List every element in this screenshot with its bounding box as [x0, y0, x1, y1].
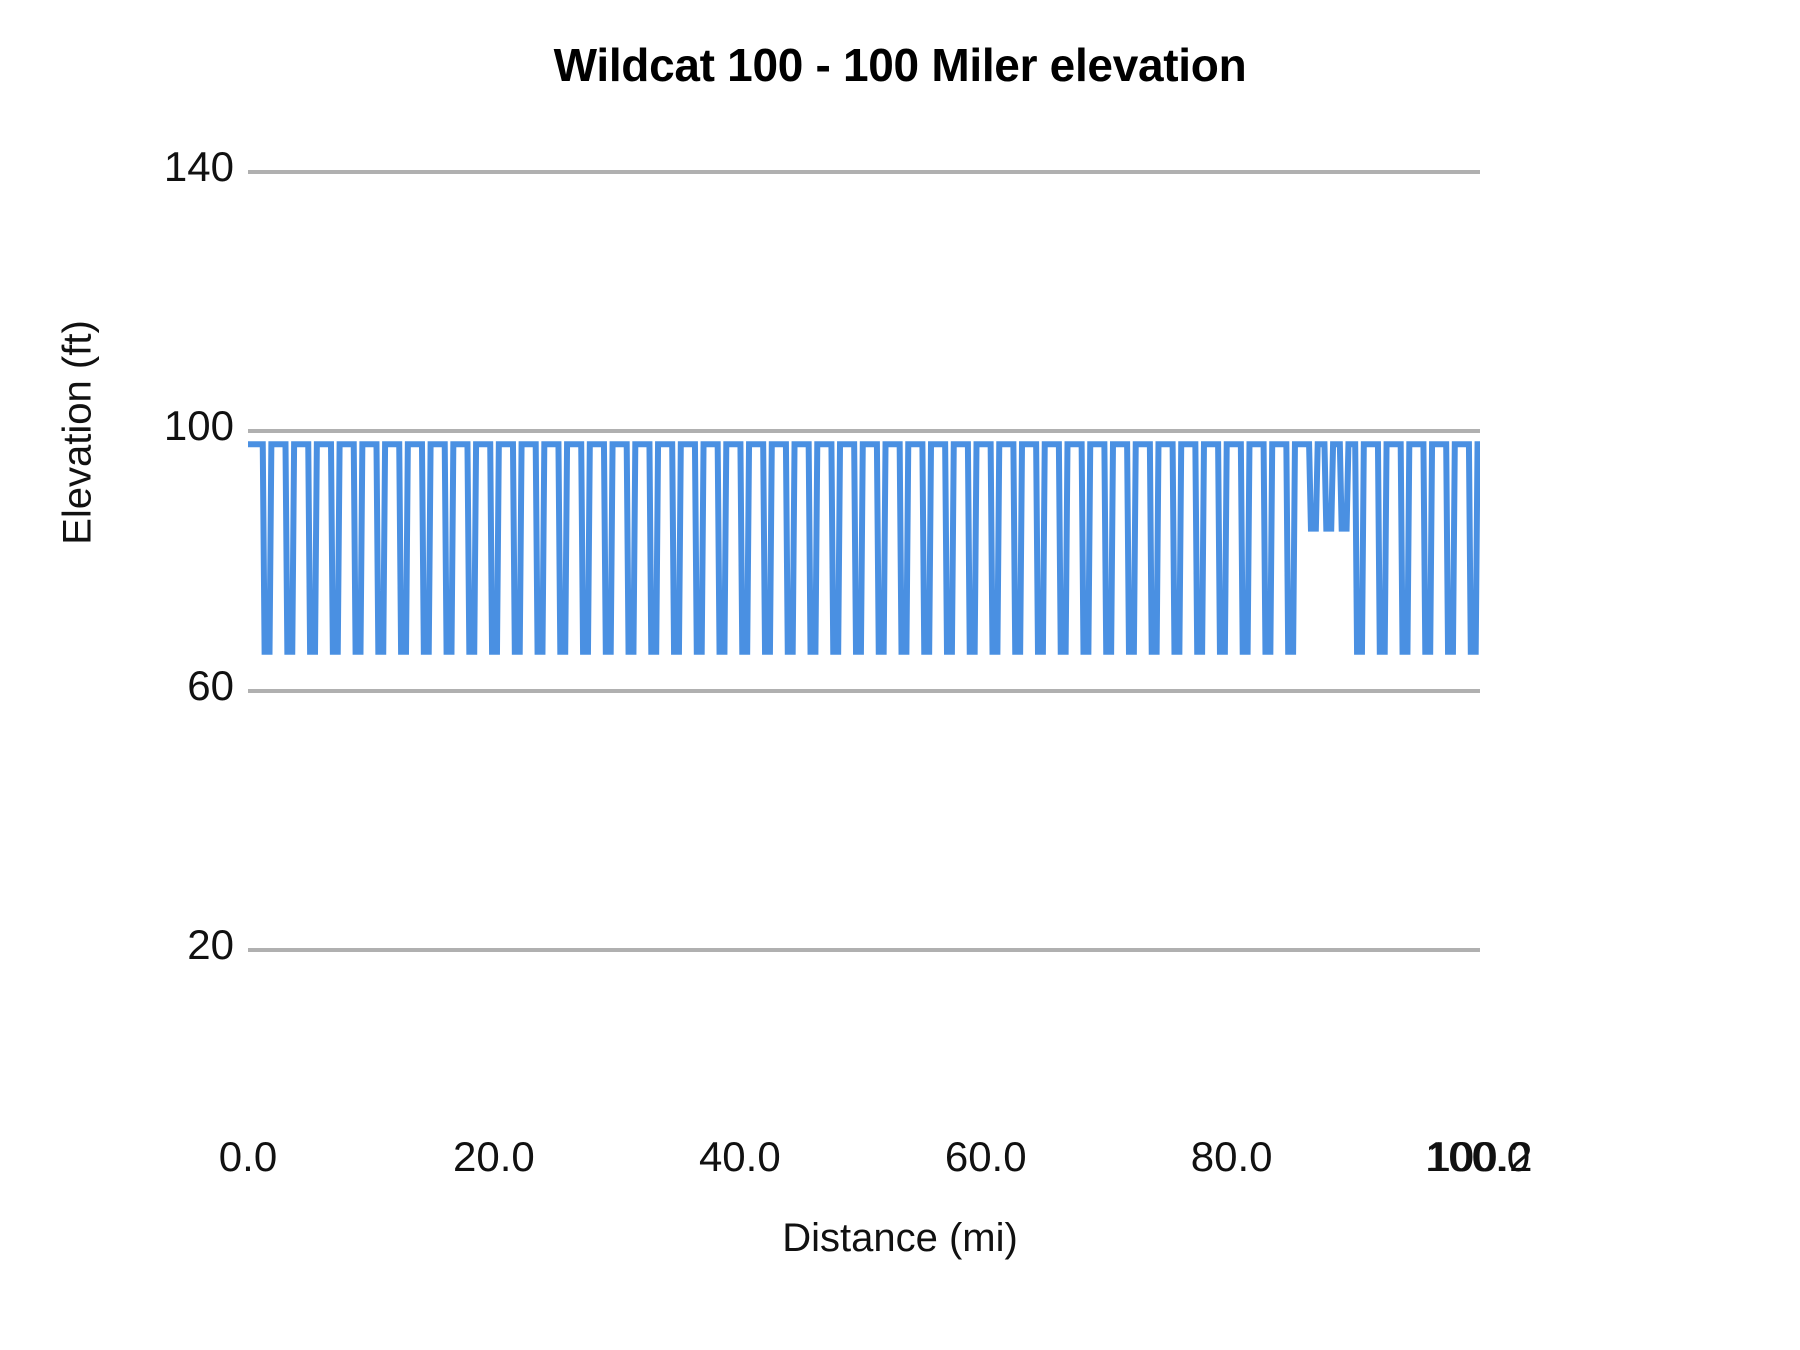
y-axis-tick-label: 60 — [54, 665, 234, 707]
x-axis-tick-label: 100.2 — [1380, 1136, 1580, 1178]
y-axis-tick-label: 140 — [54, 146, 234, 188]
gridline — [248, 948, 1480, 952]
chart-canvas: Wildcat 100 - 100 Miler elevation Elevat… — [0, 0, 1800, 1350]
y-axis-tick-label: 100 — [54, 405, 234, 447]
x-axis-title: Distance (mi) — [0, 1216, 1800, 1261]
gridline — [248, 429, 1480, 433]
plot-area — [248, 140, 1480, 970]
gridline — [248, 689, 1480, 693]
elevation-line-series — [248, 140, 1480, 970]
x-axis-tick-label: 80.0 — [1132, 1136, 1332, 1178]
gridline — [248, 170, 1480, 174]
y-axis-tick-label: 20 — [54, 924, 234, 966]
x-axis-tick-label: 20.0 — [394, 1136, 594, 1178]
x-axis-tick-label: 40.0 — [640, 1136, 840, 1178]
x-axis-tick-label: 0.0 — [148, 1136, 348, 1178]
x-axis-tick-label: 60.0 — [886, 1136, 1086, 1178]
page-title: Wildcat 100 - 100 Miler elevation — [0, 38, 1800, 92]
